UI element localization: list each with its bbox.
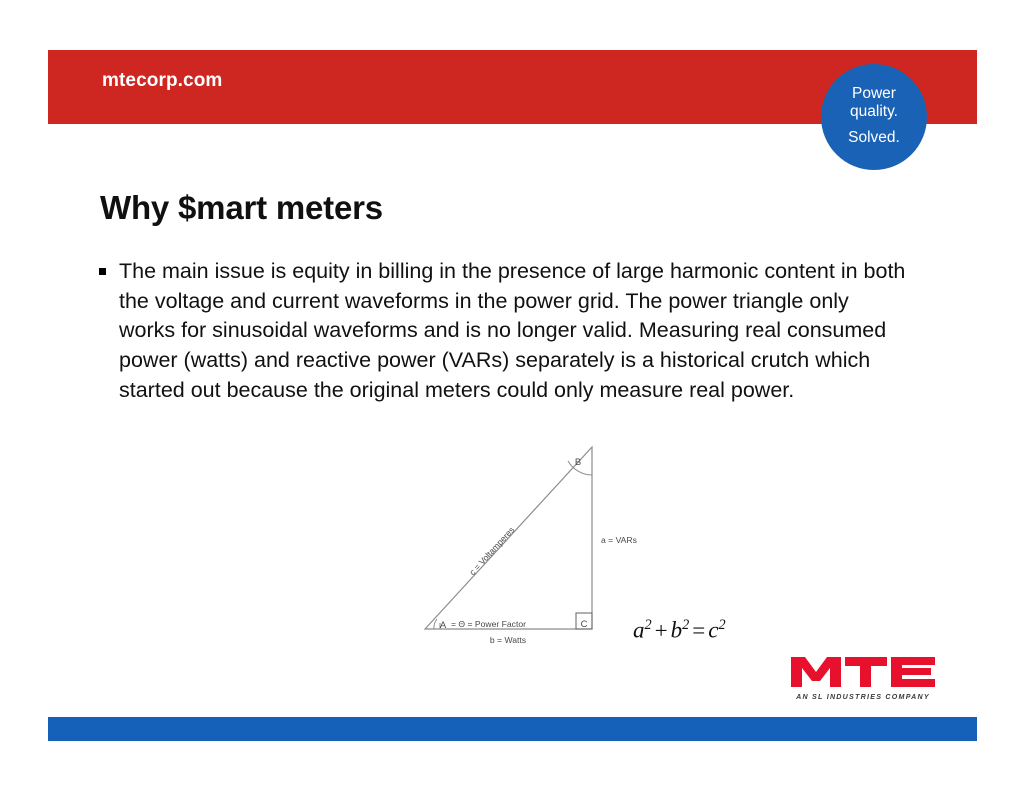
badge-line-solved: Solved. (848, 129, 900, 146)
bullet-item: The main issue is equity in billing in t… (99, 257, 919, 405)
triangle-angle-label: = Θ = Power Factor (451, 619, 526, 629)
triangle-vertex-a-label: A (440, 620, 447, 631)
equation-term-b: b (671, 618, 683, 643)
equation-exp-a: 2 (645, 617, 652, 633)
body-content: The main issue is equity in billing in t… (99, 257, 919, 405)
mte-wordmark-icon (789, 654, 937, 690)
triangle-vertex-b-label: B (575, 457, 581, 468)
page-title: Why $mart meters (100, 189, 383, 227)
equation-equals: = (689, 618, 708, 643)
equation-term-a: a (633, 618, 645, 643)
equation-term-c: c (708, 618, 718, 643)
pythagorean-equation: a2+b2=c2 (633, 617, 726, 644)
mte-tagline: AN SL INDUSTRIES COMPANY (789, 693, 937, 701)
square-bullet-icon (99, 268, 106, 275)
power-quality-badge: Power quality. Solved. (821, 64, 927, 170)
badge-line-power: Power (852, 85, 896, 102)
mte-logo: AN SL INDUSTRIES COMPANY (789, 654, 937, 706)
footer-blue-bar (48, 717, 977, 741)
triangle-vertex-c-label: C (581, 619, 588, 630)
bullet-text: The main issue is equity in billing in t… (119, 257, 909, 405)
triangle-base-label: b = Watts (490, 635, 526, 645)
header-site-label: mtecorp.com (102, 70, 222, 92)
equation-plus: + (652, 618, 671, 643)
triangle-hypotenuse-label: c = Voltamperes (467, 525, 516, 577)
equation-exp-c: 2 (718, 617, 725, 633)
badge-line-quality: quality. (850, 103, 898, 120)
power-triangle-figure: B C A = Θ = Power Factor a = VARs b = Wa… (390, 438, 650, 653)
triangle-vertical-label: a = VARs (601, 535, 637, 545)
